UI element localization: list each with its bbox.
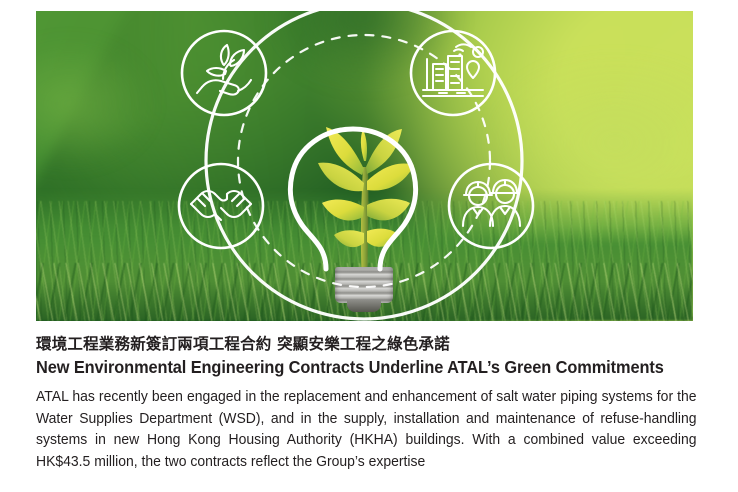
article-body: ATAL has recently been engaged in the re… [36,387,697,473]
article-title-chinese: 環境工程業務新簽訂兩項工程合約 突顯安樂工程之綠色承諾 [36,334,696,354]
article-page: 環境工程業務新簽訂兩項工程合約 突顯安樂工程之綠色承諾 New Environm… [0,0,738,492]
article-body-paragraph: ATAL has recently been engaged in the re… [36,387,697,473]
lightbulb-line-artwork [36,11,693,321]
article-title-english: New Environmental Engineering Contracts … [36,356,650,378]
hero-image [36,11,693,321]
article-text-block: 環境工程業務新簽訂兩項工程合約 突顯安樂工程之綠色承諾 New Environm… [36,334,696,473]
